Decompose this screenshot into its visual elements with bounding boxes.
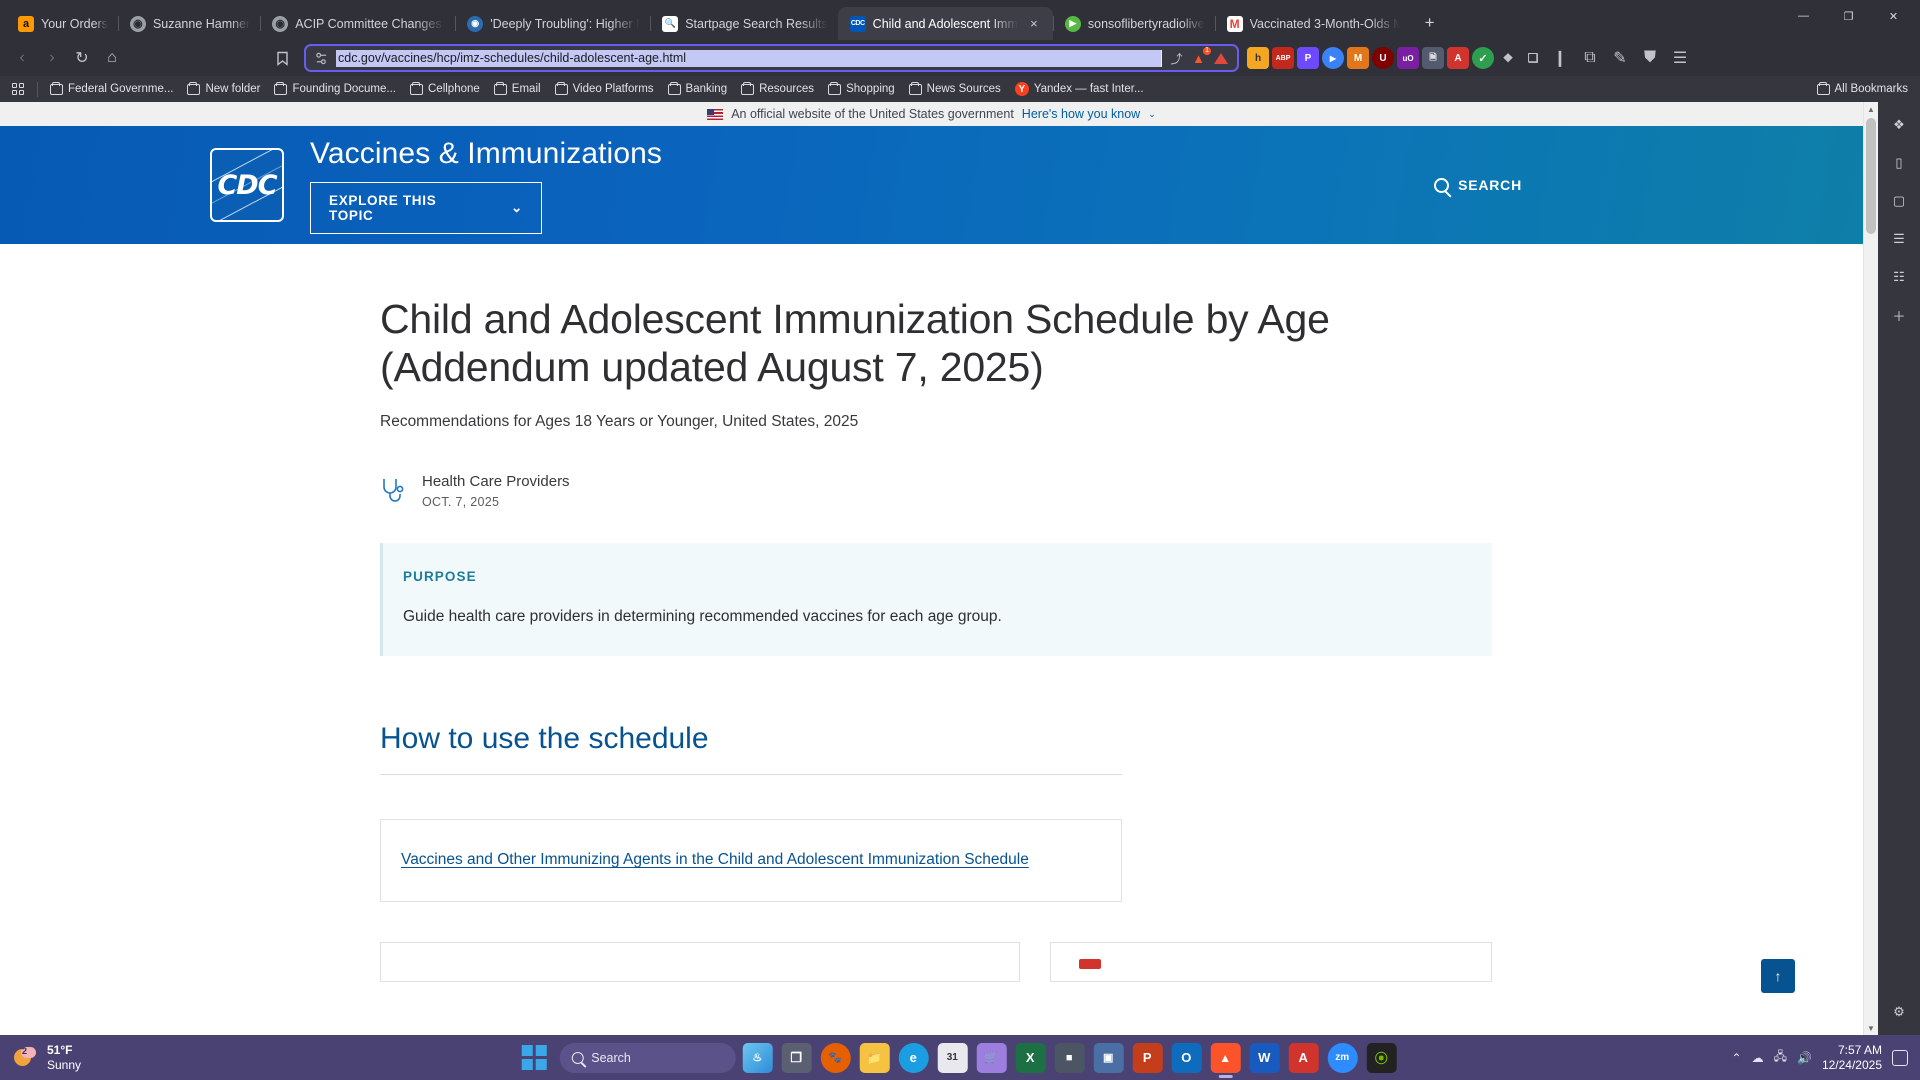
adobe-extension-icon[interactable]: 🗎 bbox=[1422, 47, 1444, 69]
folder-icon bbox=[187, 84, 200, 95]
bookmark-founding-documents[interactable]: Founding Docume... bbox=[268, 80, 402, 98]
brave-shields-icon[interactable]: ▲1 bbox=[1190, 50, 1207, 67]
tab-strip: a Your Orders ◉ Suzanne Hamner ◉ ACIP Co… bbox=[0, 0, 1920, 40]
weather-widget[interactable]: 2 51°F Sunny bbox=[0, 1043, 81, 1073]
stethoscope-icon bbox=[380, 476, 406, 506]
chevron-down-icon[interactable]: ⌄ bbox=[1148, 109, 1156, 120]
taskbar-app-file-explorer[interactable]: 📁 bbox=[859, 1043, 889, 1073]
back-button[interactable]: ‹ bbox=[8, 44, 36, 72]
bookmark-shopping[interactable]: Shopping bbox=[822, 80, 901, 98]
cdc-icon: CDC bbox=[850, 16, 866, 32]
cdc-page: An official website of the United States… bbox=[0, 102, 1863, 1035]
navigation-toolbar: ‹ › ↻ ⌂ cdc.gov/vaccines/hcp/imz-schedul… bbox=[0, 40, 1920, 76]
cdc-site-header: CDC Vaccines & Immunizations EXPLORE THI… bbox=[0, 126, 1863, 244]
folder-icon bbox=[50, 84, 63, 95]
bookmark-label: Resources bbox=[759, 83, 814, 95]
taskbar-app-screen-capture[interactable]: ▣ bbox=[1093, 1043, 1123, 1073]
close-window-button[interactable]: ✕ bbox=[1871, 0, 1916, 32]
search-label: SEARCH bbox=[1458, 177, 1522, 193]
weather-text: 51°F Sunny bbox=[47, 1043, 81, 1073]
folder-icon bbox=[555, 84, 568, 95]
volume-icon[interactable]: 🔊 bbox=[1797, 1051, 1812, 1065]
pen-icon[interactable]: ✎ bbox=[1606, 44, 1634, 72]
tabs-container: a Your Orders ◉ Suzanne Hamner ◉ ACIP Co… bbox=[6, 0, 1781, 40]
taskbar-app-acrobat[interactable]: A bbox=[1288, 1043, 1318, 1073]
tab-title: Vaccinated 3-Month-Olds Mo bbox=[1250, 17, 1400, 31]
cdc-logo[interactable]: CDC bbox=[210, 148, 284, 222]
tab-title: sonsoflibertyradiolive bbox=[1088, 17, 1205, 31]
all-bookmarks-button[interactable]: All Bookmarks bbox=[1811, 80, 1915, 98]
purpose-callout: PURPOSE Guide health care providers in d… bbox=[380, 543, 1492, 656]
taskbar-app-store[interactable]: 🛒 bbox=[976, 1043, 1006, 1073]
scrollbar-thumb[interactable] bbox=[1866, 118, 1876, 234]
window-controls: — ❐ ✕ bbox=[1781, 0, 1916, 40]
brave-sidebar: ❖ ▯ ▢ ☰ ☷ ＋ ⚙ bbox=[1878, 102, 1920, 1035]
taskbar-app-outlook[interactable]: O bbox=[1171, 1043, 1201, 1073]
close-tab-icon[interactable]: × bbox=[1025, 15, 1043, 33]
audience-role: Health Care Providers bbox=[422, 473, 570, 490]
explore-this-topic-button[interactable]: EXPLORE THIS TOPIC ⌄ bbox=[310, 182, 542, 234]
browser-tab-1[interactable]: ◉ Suzanne Hamner bbox=[118, 7, 260, 40]
content-stub-left bbox=[380, 942, 1020, 982]
purpose-text: Guide health care providers in determini… bbox=[403, 608, 1492, 626]
folder-icon bbox=[274, 84, 287, 95]
settings-icon[interactable]: ⚙ bbox=[1886, 999, 1912, 1025]
forward-button[interactable]: › bbox=[38, 44, 66, 72]
reading-list-icon[interactable]: ☰ bbox=[1886, 226, 1912, 252]
tab-title: Startpage Search Results bbox=[685, 17, 827, 31]
bookmark-email[interactable]: Email bbox=[488, 80, 547, 98]
taskbar-search-box[interactable]: Search bbox=[559, 1043, 735, 1073]
pdf-viewer-icon[interactable] bbox=[1212, 50, 1229, 67]
site-title: Vaccines & Immunizations bbox=[310, 137, 662, 171]
play-icon: ▶ bbox=[1065, 16, 1081, 32]
heres-how-you-know-link[interactable]: Here's how you know bbox=[1022, 107, 1140, 121]
bookmark-new-folder[interactable]: New folder bbox=[181, 80, 266, 98]
bookmark-news-sources[interactable]: News Sources bbox=[903, 80, 1007, 98]
taskbar-app-edge[interactable]: e bbox=[898, 1043, 928, 1073]
puzzle-extension-icon[interactable]: ❖ bbox=[1497, 47, 1519, 69]
taskbar-app-widgets[interactable]: ♨ bbox=[742, 1043, 772, 1073]
tab-title: ACIP Committee Changes Hep bbox=[295, 17, 445, 31]
taskbar-app-calendar[interactable]: 31 bbox=[937, 1043, 967, 1073]
search-icon bbox=[571, 1052, 583, 1064]
site-search-button[interactable]: SEARCH bbox=[1434, 177, 1817, 193]
bookmark-label: Video Platforms bbox=[573, 83, 654, 95]
brave-leo-icon[interactable]: ❖ bbox=[1886, 112, 1912, 138]
bookmark-banking[interactable]: Banking bbox=[662, 80, 734, 98]
page-scrollbar[interactable]: ▲ ▼ bbox=[1863, 102, 1878, 1035]
search-icon bbox=[1434, 178, 1449, 193]
proton-extension-icon[interactable]: P bbox=[1297, 47, 1319, 69]
bookmark-label: News Sources bbox=[927, 83, 1001, 95]
page-subtitle: Recommendations for Ages 18 Years or You… bbox=[380, 413, 1520, 431]
tab-title: Your Orders bbox=[41, 17, 108, 31]
browser-window: a Your Orders ◉ Suzanne Hamner ◉ ACIP Co… bbox=[0, 0, 1920, 1035]
bookmark-cellphone[interactable]: Cellphone bbox=[404, 80, 486, 98]
folder-icon bbox=[828, 84, 841, 95]
us-flag-icon bbox=[707, 109, 723, 120]
gov-banner-text: An official website of the United States… bbox=[731, 107, 1014, 121]
audience-text: Health Care Providers OCT. 7, 2025 bbox=[422, 473, 570, 509]
bookmark-label: Federal Governme... bbox=[68, 83, 173, 95]
browser-tab-3[interactable]: ◉ 'Deeply Troubling': Higher Mor bbox=[455, 7, 650, 40]
folder-icon bbox=[494, 84, 507, 95]
government-banner: An official website of the United States… bbox=[0, 102, 1863, 126]
omnibox-actions: ⤴ ▲1 bbox=[1168, 50, 1231, 67]
purpose-label: PURPOSE bbox=[403, 569, 1492, 584]
cdc-logo-text: CDC bbox=[217, 170, 276, 201]
bookmark-label: Cellphone bbox=[428, 83, 480, 95]
globe-blue-icon: ◉ bbox=[467, 16, 483, 32]
bookmark-label: Shopping bbox=[846, 83, 895, 95]
divider bbox=[37, 82, 38, 97]
tab-title: Child and Adolescent Imm bbox=[873, 17, 1018, 31]
scroll-to-top-button[interactable]: ↑ bbox=[1761, 959, 1795, 993]
new-tab-button[interactable]: + bbox=[1416, 9, 1444, 37]
ublock2-extension-icon[interactable]: uO bbox=[1397, 47, 1419, 69]
taskbar-app-word[interactable]: W bbox=[1249, 1043, 1279, 1073]
taskbar-center: Search ♨ ❐ 🐾 📁 e 31 🛒 X ■ ▣ P O ▲ W A zm… bbox=[522, 1043, 1399, 1073]
browser-tab-6[interactable]: ▶ sonsoflibertyradiolive bbox=[1053, 7, 1215, 40]
share-icon[interactable]: ⤴ bbox=[1168, 50, 1185, 67]
site-title-group: Vaccines & Immunizations EXPLORE THIS TO… bbox=[310, 137, 662, 234]
start-button-icon[interactable] bbox=[522, 1045, 547, 1070]
pdf-extension-icon[interactable]: A bbox=[1447, 47, 1469, 69]
apps-shortcut-icon[interactable] bbox=[6, 80, 31, 98]
minimize-button[interactable]: — bbox=[1781, 0, 1826, 32]
browser-tab-4[interactable]: 🔍 Startpage Search Results bbox=[650, 7, 837, 40]
weather-sunny-icon: 2 bbox=[14, 1046, 38, 1070]
wallet-icon[interactable]: ▯ bbox=[1886, 150, 1912, 176]
taskbar-app-brave[interactable]: ▲ bbox=[1210, 1043, 1240, 1073]
taskbar-app-calculator[interactable]: ■ bbox=[1054, 1043, 1084, 1073]
bookmark-resources[interactable]: Resources bbox=[735, 80, 820, 98]
page-content: Child and Adolescent Immunization Schedu… bbox=[0, 244, 1520, 982]
taskbar-app-nvidia[interactable]: ⦿ bbox=[1366, 1043, 1396, 1073]
folder-icon bbox=[1817, 84, 1830, 95]
yandex-icon: Y bbox=[1015, 82, 1029, 96]
browser-tab-5-active[interactable]: CDC Child and Adolescent Imm × bbox=[838, 7, 1053, 40]
bookmark-label: Banking bbox=[686, 83, 728, 95]
folder-icon bbox=[410, 84, 423, 95]
url-text[interactable]: cdc.gov/vaccines/hcp/imz-schedules/child… bbox=[336, 50, 1162, 67]
bookmark-label: Founding Docume... bbox=[292, 83, 396, 95]
history-icon[interactable]: ☷ bbox=[1886, 264, 1912, 290]
ublock-extension-icon[interactable]: U bbox=[1372, 47, 1394, 69]
taskbar-app-firefox[interactable]: 🐾 bbox=[820, 1043, 850, 1073]
brave-vpn-icon[interactable]: ⛊ bbox=[1636, 44, 1664, 72]
folder-icon bbox=[668, 84, 681, 95]
browser-tab-0[interactable]: a Your Orders bbox=[6, 7, 118, 40]
content-stub-right bbox=[1050, 942, 1492, 982]
bookmark-label: Yandex — fast Inter... bbox=[1034, 83, 1144, 95]
notification-center-icon[interactable] bbox=[1892, 1050, 1908, 1066]
bookmark-icon[interactable] bbox=[268, 44, 296, 72]
chevron-down-icon: ⌄ bbox=[511, 200, 523, 216]
schedule-link[interactable]: Vaccines and Other Immunizing Agents in … bbox=[401, 848, 1061, 871]
shields-count: 1 bbox=[1203, 47, 1211, 55]
tab-title: Suzanne Hamner bbox=[153, 17, 250, 31]
system-tray: ⌃ ☁ 🖧 🔊 7:57 AM 12/24/2025 bbox=[1732, 1043, 1920, 1073]
publish-date: OCT. 7, 2025 bbox=[422, 495, 570, 509]
audience-block: Health Care Providers OCT. 7, 2025 bbox=[380, 473, 1520, 509]
all-bookmarks-label: All Bookmarks bbox=[1835, 83, 1909, 95]
weather-temperature: 51°F bbox=[47, 1043, 72, 1057]
reload-button[interactable]: ↻ bbox=[68, 44, 96, 72]
content-stub-row bbox=[380, 942, 1520, 982]
page-title: Child and Adolescent Immunization Schedu… bbox=[380, 296, 1440, 391]
bookmark-yandex[interactable]: Y Yandex — fast Inter... bbox=[1009, 79, 1150, 99]
taskbar-app-powerpoint[interactable]: P bbox=[1132, 1043, 1162, 1073]
cast-extension-icon[interactable]: ❑ bbox=[1522, 47, 1544, 69]
network-icon[interactable]: 🖧 bbox=[1774, 1047, 1787, 1068]
bookmark-federal-government[interactable]: Federal Governme... bbox=[44, 80, 179, 98]
browser-tab-7[interactable]: M Vaccinated 3-Month-Olds Mo bbox=[1215, 7, 1410, 40]
browser-menu-icon[interactable]: ☰ bbox=[1666, 44, 1694, 72]
clock-time: 7:57 AM bbox=[1838, 1043, 1882, 1057]
page-viewport: An official website of the United States… bbox=[0, 102, 1920, 1035]
windows-taskbar: 2 51°F Sunny Search ♨ ❐ 🐾 📁 e 31 🛒 X ■ ▣… bbox=[0, 1035, 1920, 1080]
check-extension-icon[interactable]: ✓ bbox=[1472, 47, 1494, 69]
tab-title: 'Deeply Troubling': Higher Mor bbox=[490, 17, 640, 31]
globe-icon: ◉ bbox=[272, 16, 288, 32]
metamask-extension-icon[interactable]: M bbox=[1347, 47, 1369, 69]
address-bar[interactable]: cdc.gov/vaccines/hcp/imz-schedules/child… bbox=[304, 44, 1239, 72]
permissions-icon[interactable] bbox=[312, 52, 330, 65]
sidebar-toggle-icon[interactable]: ❙ bbox=[1546, 44, 1574, 72]
add-panel-icon[interactable]: ＋ bbox=[1886, 302, 1912, 328]
taskbar-app-excel[interactable]: X bbox=[1015, 1043, 1045, 1073]
taskbar-app-task-view[interactable]: ❐ bbox=[781, 1043, 811, 1073]
link-card: Vaccines and Other Immunizing Agents in … bbox=[380, 819, 1122, 902]
bookmarks-bar: Federal Governme... New folder Founding … bbox=[0, 76, 1920, 102]
folder-icon bbox=[909, 84, 922, 95]
honey-extension-icon[interactable]: h bbox=[1247, 47, 1269, 69]
gmail-icon: M bbox=[1227, 16, 1243, 32]
maximize-button[interactable]: ❐ bbox=[1826, 0, 1871, 32]
taskbar-clock[interactable]: 7:57 AM 12/24/2025 bbox=[1822, 1043, 1882, 1073]
notification-badge: 2 bbox=[22, 1046, 27, 1056]
explore-label: EXPLORE THIS TOPIC bbox=[329, 193, 473, 223]
abp-extension-icon[interactable]: ABP bbox=[1272, 47, 1294, 69]
tray-expand-icon[interactable]: ⌃ bbox=[1732, 1051, 1742, 1065]
search-placeholder: Search bbox=[591, 1051, 631, 1065]
bookmark-label: New folder bbox=[205, 83, 260, 95]
section-heading-how-to-use: How to use the schedule bbox=[380, 722, 1122, 775]
split-view-icon[interactable]: ⧉ bbox=[1576, 44, 1604, 72]
clock-date: 12/24/2025 bbox=[1822, 1058, 1882, 1072]
scroll-up-icon[interactable]: ▲ bbox=[1864, 102, 1878, 116]
extensions-toolbar: h ABP P ▶ M U uO 🗎 A ✓ ❖ ❑ bbox=[1247, 47, 1544, 69]
taskbar-app-zoom[interactable]: zm bbox=[1327, 1043, 1357, 1073]
scroll-down-icon[interactable]: ▼ bbox=[1864, 1021, 1878, 1035]
home-button[interactable]: ⌂ bbox=[98, 44, 126, 72]
onedrive-cloud-icon[interactable]: ☁ bbox=[1752, 1051, 1764, 1065]
amazon-icon: a bbox=[18, 16, 34, 32]
browser-tab-2[interactable]: ◉ ACIP Committee Changes Hep bbox=[260, 7, 455, 40]
bookmark-video-platforms[interactable]: Video Platforms bbox=[549, 80, 660, 98]
globe-icon: ◉ bbox=[130, 16, 146, 32]
weather-condition: Sunny bbox=[47, 1058, 81, 1072]
bookmark-label: Email bbox=[512, 83, 541, 95]
brave-rewards-extension-icon[interactable]: ▶ bbox=[1322, 47, 1344, 69]
folder-icon bbox=[741, 84, 754, 95]
bookmarks-icon[interactable]: ▢ bbox=[1886, 188, 1912, 214]
startpage-icon: 🔍 bbox=[662, 16, 678, 32]
